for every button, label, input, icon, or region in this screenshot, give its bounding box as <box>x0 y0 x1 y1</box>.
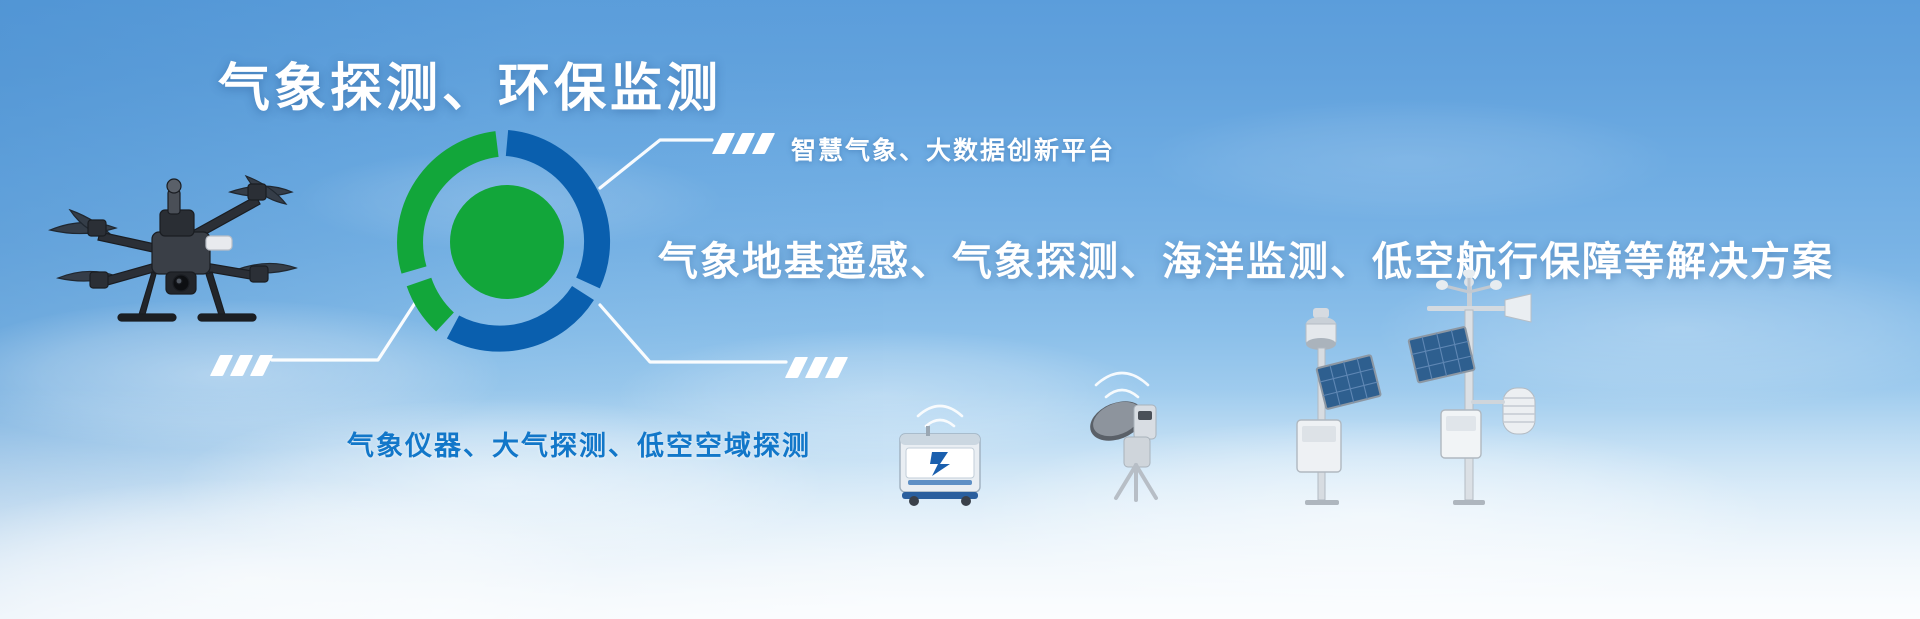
slash-marker-top <box>717 133 770 154</box>
satellite-dish-tripod-icon <box>1072 355 1187 505</box>
solar-weather-station-icon <box>1275 300 1385 505</box>
slash-marker-bottom-left <box>215 355 268 376</box>
mobile-weather-cabinet-icon <box>892 382 988 507</box>
label-instruments: 气象仪器、大气探测、低空空域探测 <box>347 424 811 463</box>
banner-root: 气象探测、环保监测 智慧气象、大数据创新平台 气象地基遥感、气象探测、海洋监测、… <box>0 0 1920 619</box>
quadcopter-drone-icon <box>40 150 310 340</box>
label-smart-meteorology: 智慧气象、大数据创新平台 <box>791 131 1115 167</box>
page-title: 气象探测、环保监测 <box>218 46 722 121</box>
label-solutions-main: 气象地基遥感、气象探测、海洋监测、低空航行保障等解决方案 <box>658 229 1834 287</box>
solar-anemometer-mast-icon <box>1405 270 1545 505</box>
slash-marker-bottom-right <box>790 357 843 378</box>
donut-ring-chart-icon <box>393 128 621 356</box>
